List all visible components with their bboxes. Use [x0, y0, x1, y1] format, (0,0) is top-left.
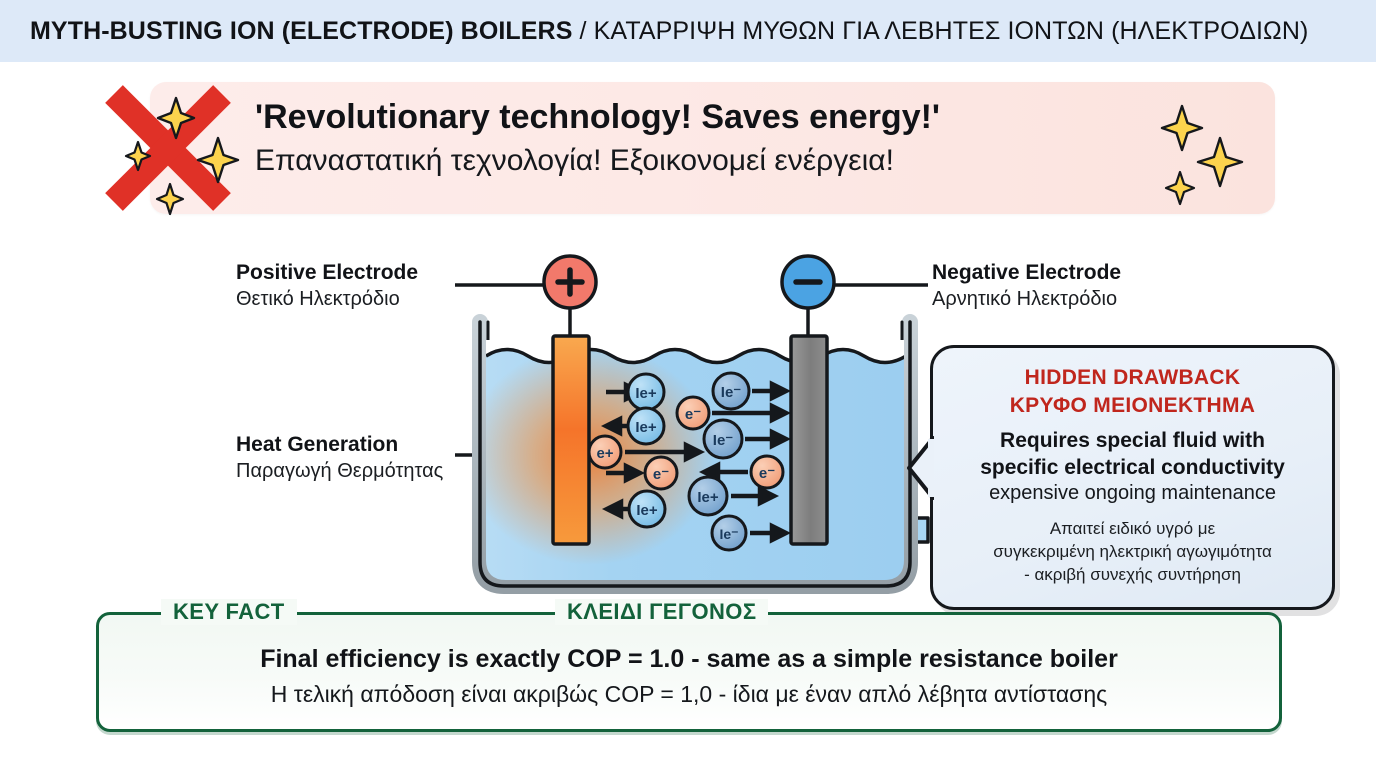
myth-text-block: 'Revolutionary technology! Saves energy!…	[255, 96, 1165, 180]
key-fact-statement-en: Final efficiency is exactly COP = 1.0 - …	[99, 643, 1279, 676]
callout-main-line2: specific electrical conductivity	[933, 455, 1332, 481]
ion-bubble: Ie⁻	[713, 373, 749, 409]
myth-quote-el: Επαναστατική τεχνολογία! Εξοικονομεί ενέ…	[255, 141, 1165, 180]
page-title-separator: /	[572, 17, 593, 45]
ion-bubble: Ie+	[628, 374, 664, 410]
ion-bubble: Ie+	[629, 491, 665, 527]
callout-greek-line1: Απαιτεί ειδικό υγρό με	[933, 518, 1332, 541]
svg-text:Ie⁻: Ie⁻	[713, 432, 734, 449]
ion-bubble: Ie+	[689, 477, 727, 515]
svg-text:e⁻: e⁻	[653, 466, 669, 483]
callout-pointer-icon	[906, 436, 934, 500]
four-point-sparkle-icon	[156, 96, 196, 140]
header-band: MYTH-BUSTING ION (ELECTRODE) BOILERS / Κ…	[0, 0, 1376, 62]
callout-title-el: ΚΡΥΦΟ ΜΕΙΟΝΕΚΤΗΜΑ	[933, 392, 1332, 420]
ion-bubble: Ie⁻	[712, 516, 746, 550]
electron-bubble: e⁻	[677, 397, 709, 429]
ion-bubble: Ie⁻	[704, 420, 742, 458]
key-fact-panel: KEY FACT ΚΛΕΙΔΙ ΓΕΓΟΝΟΣ Final efficiency…	[96, 612, 1282, 732]
myth-quote-en: 'Revolutionary technology! Saves energy!…	[255, 96, 1165, 139]
four-point-sparkle-icon	[196, 136, 240, 184]
svg-text:e⁻: e⁻	[685, 406, 701, 423]
four-point-sparkle-icon	[1164, 170, 1196, 206]
svg-text:Ie+: Ie+	[636, 502, 658, 519]
callout-main-line1: Requires special fluid with	[933, 428, 1332, 454]
page-title: MYTH-BUSTING ION (ELECTRODE) BOILERS / Κ…	[0, 17, 1308, 46]
svg-text:Ie⁻: Ie⁻	[719, 526, 738, 542]
key-fact-legend-en: KEY FACT	[161, 599, 297, 625]
electron-bubble: e+	[589, 436, 621, 468]
callout-greek-line2: συγκεκριμένη ηλεκτρική αγωγιμότητα	[933, 541, 1332, 564]
anode-plate	[553, 336, 589, 544]
callout-greek-line3: - ακριβή συνεχής συντήρηση	[933, 564, 1332, 587]
svg-text:Ie+: Ie+	[697, 489, 719, 506]
hidden-drawback-callout: HIDDEN DRAWBACK ΚΡΥΦΟ ΜΕΙΟΝΕΚΤΗΜΑ Requir…	[930, 345, 1335, 610]
svg-text:Ie+: Ie+	[635, 385, 657, 402]
ion-bubble: Ie+	[628, 408, 664, 444]
electron-bubble: e⁻	[645, 457, 677, 489]
key-fact-legend-el: ΚΛΕΙΔΙ ΓΕΓΟΝΟΣ	[555, 599, 768, 625]
page-title-en: MYTH-BUSTING ION (ELECTRODE) BOILERS	[30, 17, 572, 45]
key-fact-body: Final efficiency is exactly COP = 1.0 - …	[99, 615, 1279, 710]
callout-sub-line: expensive ongoing maintenance	[933, 481, 1332, 506]
svg-text:Ie⁻: Ie⁻	[721, 384, 742, 401]
water-body	[465, 340, 906, 585]
cathode-plate	[791, 336, 827, 544]
key-fact-statement-el: Η τελική απόδοση είναι ακριβώς COP = 1,0…	[99, 679, 1279, 710]
myth-banner: 'Revolutionary technology! Saves energy!…	[150, 82, 1275, 214]
four-point-sparkle-icon	[1196, 136, 1244, 188]
callout-title-en: HIDDEN DRAWBACK	[933, 364, 1332, 392]
four-point-sparkle-icon	[124, 140, 152, 172]
svg-text:Ie+: Ie+	[635, 419, 657, 436]
svg-text:e⁻: e⁻	[759, 465, 775, 482]
four-point-sparkle-icon	[155, 182, 185, 216]
svg-text:e+: e+	[596, 445, 613, 462]
electron-bubble: e⁻	[751, 456, 783, 488]
page-title-el: ΚΑΤΑΡΡΙΨΗ ΜΥΘΩΝ ΓΙΑ ΛΕΒΗΤΕΣ ΙΟΝΤΩΝ (ΗΛΕΚ…	[594, 17, 1309, 45]
